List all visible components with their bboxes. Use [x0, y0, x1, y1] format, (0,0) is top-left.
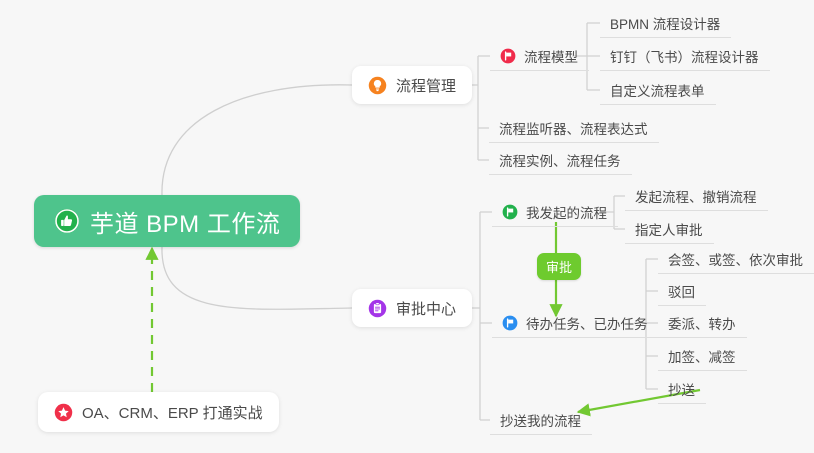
- thumbs-up-icon: [54, 208, 80, 234]
- link-root-to-process-management: [162, 85, 352, 195]
- leaf-delegate-transfer-label: 委派、转办: [668, 313, 736, 333]
- node-my-initiated[interactable]: 我发起的流程: [492, 197, 618, 227]
- leaf-countersign-label: 会签、或签、依次审批: [668, 249, 803, 269]
- star-icon: [54, 403, 73, 422]
- leaf-start-cancel-process[interactable]: 发起流程、撤销流程: [625, 181, 768, 211]
- leaf-process-instance[interactable]: 流程实例、流程任务: [489, 145, 632, 175]
- approval-badge: 审批: [537, 253, 581, 280]
- red-flag-icon: [500, 48, 516, 64]
- root-label: 芋道 BPM 工作流: [90, 204, 280, 239]
- blue-flag-icon: [502, 315, 518, 331]
- green-flag-icon: [502, 204, 518, 220]
- branch-approval-center[interactable]: 审批中心: [352, 289, 472, 327]
- clipboard-icon: [368, 299, 387, 318]
- leaf-countersign[interactable]: 会签、或签、依次审批: [658, 244, 814, 274]
- branch-process-management-label: 流程管理: [396, 75, 456, 96]
- leaf-delegate-transfer[interactable]: 委派、转办: [658, 308, 747, 338]
- branch-process-management[interactable]: 流程管理: [352, 66, 472, 104]
- node-todo-done-tasks[interactable]: 待办任务、已办任务: [492, 308, 659, 338]
- leaf-cc[interactable]: 抄送: [658, 374, 706, 404]
- footer-node-label: OA、CRM、ERP 打通实战: [82, 402, 263, 423]
- root-node[interactable]: 芋道 BPM 工作流: [34, 195, 300, 247]
- leaf-bpmn-designer-label: BPMN 流程设计器: [610, 13, 720, 33]
- lightbulb-icon: [368, 76, 387, 95]
- node-process-model[interactable]: 流程模型: [490, 41, 589, 71]
- leaf-process-listener-label: 流程监听器、流程表达式: [499, 118, 648, 138]
- link-root-to-approval-center: [162, 247, 352, 309]
- leaf-process-listener[interactable]: 流程监听器、流程表达式: [489, 113, 659, 143]
- leaf-custom-form-label: 自定义流程表单: [610, 80, 705, 100]
- node-my-initiated-label: 我发起的流程: [526, 202, 607, 222]
- leaf-add-remove-sign[interactable]: 加签、减签: [658, 341, 747, 371]
- footer-node-oa-crm-erp[interactable]: OA、CRM、ERP 打通实战: [38, 392, 279, 432]
- node-cc-to-me-label: 抄送我的流程: [500, 410, 581, 430]
- leaf-bpmn-designer[interactable]: BPMN 流程设计器: [600, 8, 731, 38]
- branch-approval-center-label: 审批中心: [396, 298, 456, 319]
- mindmap-canvas: 芋道 BPM 工作流 流程管理 流程模型 BPMN 流程设计器 钉钉（飞书）流程: [0, 0, 814, 453]
- leaf-process-instance-label: 流程实例、流程任务: [499, 150, 621, 170]
- node-process-model-label: 流程模型: [524, 46, 578, 66]
- leaf-start-cancel-process-label: 发起流程、撤销流程: [635, 186, 757, 206]
- leaf-custom-form[interactable]: 自定义流程表单: [600, 75, 716, 105]
- leaf-add-remove-sign-label: 加签、减签: [668, 346, 736, 366]
- leaf-dingtalk-designer-label: 钉钉（飞书）流程设计器: [610, 46, 759, 66]
- approval-badge-label: 审批: [546, 257, 572, 276]
- node-cc-to-me[interactable]: 抄送我的流程: [490, 405, 592, 435]
- leaf-cc-label: 抄送: [668, 379, 695, 399]
- leaf-assignee-approval[interactable]: 指定人审批: [625, 214, 714, 244]
- leaf-reject[interactable]: 驳回: [658, 276, 706, 306]
- leaf-reject-label: 驳回: [668, 281, 695, 301]
- leaf-assignee-approval-label: 指定人审批: [635, 219, 703, 239]
- node-todo-done-tasks-label: 待办任务、已办任务: [526, 313, 648, 333]
- leaf-dingtalk-designer[interactable]: 钉钉（飞书）流程设计器: [600, 41, 770, 71]
